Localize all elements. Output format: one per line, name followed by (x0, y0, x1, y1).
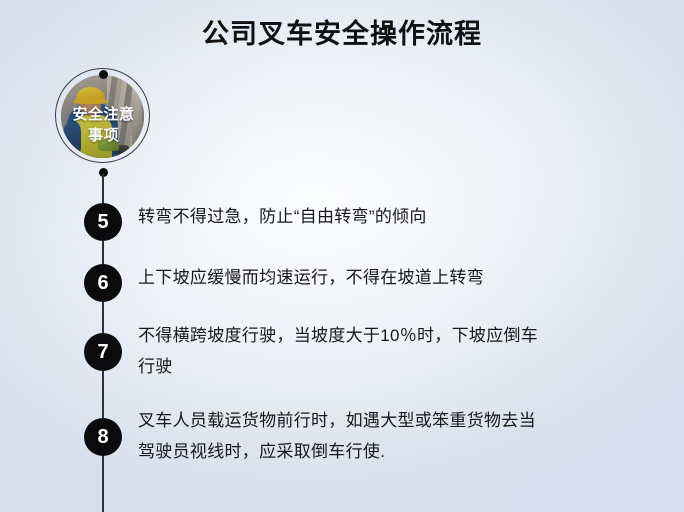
step-text-line: 上下坡应缓慢而均速运行，不得在坡道上转弯 (138, 262, 638, 293)
slide-canvas: 公司叉车安全操作流程 安全注意 事项 5 转弯不得过急 (0, 0, 684, 512)
step-number-badge: 5 (84, 203, 122, 241)
steps-list: 5 转弯不得过急，防止“自由转弯”的倾向 6 上下坡应缓慢而均速运行，不得在坡道… (0, 0, 684, 512)
step-text: 上下坡应缓慢而均速运行，不得在坡道上转弯 (138, 262, 638, 293)
step-text: 叉车人员载运货物前行时，如遇大型或笨重货物去当 驾驶员视线时，应采取倒车行使. (138, 405, 638, 467)
step-text: 不得横跨坡度行驶，当坡度大于10％时，下坡应倒车 行驶 (138, 320, 638, 382)
step-text-line: 叉车人员载运货物前行时，如遇大型或笨重货物去当 (138, 405, 638, 436)
step-number-badge: 7 (84, 333, 122, 371)
step-text-line: 驾驶员视线时，应采取倒车行使. (138, 436, 638, 467)
step-number-badge: 6 (84, 264, 122, 302)
step-number-badge: 8 (84, 418, 122, 456)
step-text-line: 行驶 (138, 351, 638, 382)
step-text-line: 转弯不得过急，防止“自由转弯”的倾向 (138, 201, 638, 232)
step-text: 转弯不得过急，防止“自由转弯”的倾向 (138, 201, 638, 232)
step-text-line: 不得横跨坡度行驶，当坡度大于10％时，下坡应倒车 (138, 320, 638, 351)
